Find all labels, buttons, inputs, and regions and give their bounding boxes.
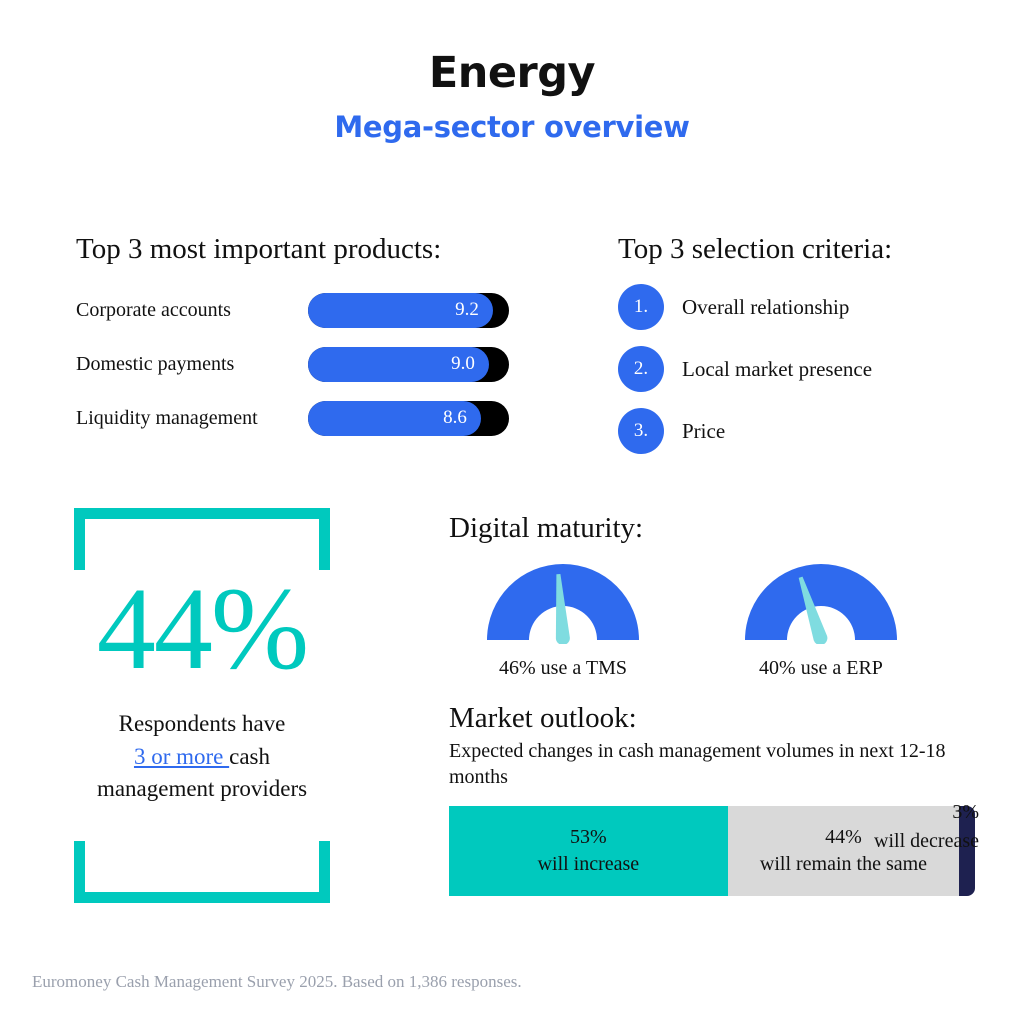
products-list: Corporate accounts9.2Domestic payments9.… [76,292,536,436]
product-bar-track: 9.0 [308,347,509,382]
bracket-top-bar [74,508,330,519]
product-bar-fill: 8.6 [308,401,481,436]
decrease-text: will decrease [874,830,979,852]
bracket-bottom-bar [74,892,330,903]
market-outlook-section: Market outlook: Expected changes in cash… [449,702,979,896]
criteria-label: Price [682,419,725,444]
products-section: Top 3 most important products: Corporate… [76,233,536,454]
product-value: 9.0 [451,353,489,375]
criteria-list: 1.Overall relationship2.Local market pre… [618,284,998,454]
market-outlook-heading: Market outlook: [449,702,979,735]
outlook-segment: 53%will increase [449,806,728,896]
product-row: Liquidity management8.6 [76,400,536,436]
criteria-row: 3.Price [618,408,998,454]
product-value: 8.6 [443,407,481,429]
page-subtitle: Mega-sector overview [0,110,1024,144]
footer-source: Euromoney Cash Management Survey 2025. B… [32,972,522,992]
bracket-bottom-left [74,841,85,903]
bracket-top-right [319,508,330,570]
product-bar-track: 8.6 [308,401,509,436]
gauge-item: 40% use a ERP [691,560,951,680]
decrease-pct: 3% [952,801,979,823]
criteria-heading: Top 3 selection criteria: [618,233,998,266]
segment-text: will increase [538,851,640,878]
product-label: Liquidity management [76,407,308,430]
product-label: Domestic payments [76,353,308,376]
stat-caption-link[interactable]: 3 or more [134,744,229,769]
criteria-rank-badge: 3. [618,408,664,454]
bracket-bottom-right [319,841,330,903]
product-value: 9.2 [455,299,493,321]
criteria-row: 2.Local market presence [618,346,998,392]
product-bar-fill: 9.2 [308,293,493,328]
page-title: Energy [0,48,1024,98]
product-row: Domestic payments9.0 [76,346,536,382]
segment-pct: 53% [570,824,607,851]
criteria-rank-badge: 2. [618,346,664,392]
market-outlook-subtitle: Expected changes in cash management volu… [449,739,979,790]
criteria-row: 1.Overall relationship [618,284,998,330]
digital-maturity-heading: Digital maturity: [449,512,969,545]
product-bar-track: 9.2 [308,293,509,328]
gauge-caption: 46% use a TMS [433,657,693,680]
criteria-label: Overall relationship [682,295,849,320]
gauge-dial [741,560,901,644]
stat-highlight: 44% Respondents have 3 or more cash mana… [74,508,330,903]
stat-caption: Respondents have 3 or more cash manageme… [82,708,322,806]
criteria-label: Local market presence [682,357,872,382]
bracket-top-left [74,508,85,570]
gauge-caption: 40% use a ERP [691,657,951,680]
gauge-item: 46% use a TMS [433,560,693,680]
segment-pct: 44% [825,824,862,851]
stat-value: 44% [74,570,330,688]
product-bar-fill: 9.0 [308,347,489,382]
gauge-dial [483,560,643,644]
products-heading: Top 3 most important products: [76,233,536,266]
decrease-annotation: 3% will decrease [874,798,979,856]
criteria-section: Top 3 selection criteria: 1.Overall rela… [618,233,998,470]
stat-caption-before: Respondents have [119,711,286,736]
product-label: Corporate accounts [76,299,308,322]
criteria-rank-badge: 1. [618,284,664,330]
infographic-page: Energy Mega-sector overview Top 3 most i… [0,0,1024,1024]
product-row: Corporate accounts9.2 [76,292,536,328]
digital-maturity-section: Digital maturity: 46% use a TMS40% use a… [449,512,969,545]
